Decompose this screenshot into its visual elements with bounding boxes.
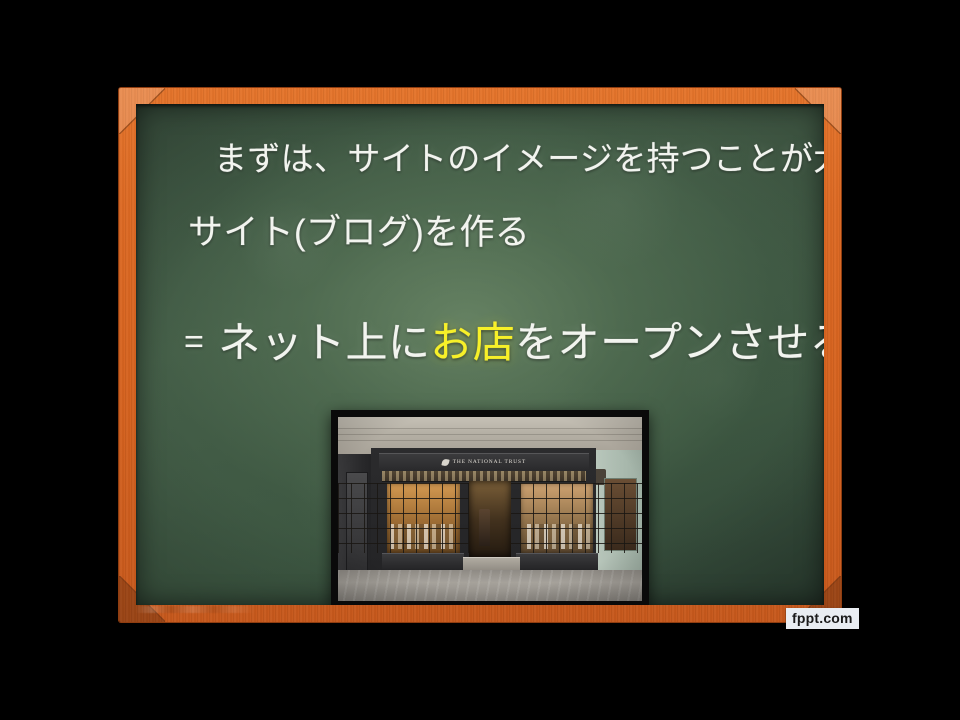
shop-photo: THE NATIONAL TRUST <box>338 417 642 601</box>
slide-stage: まずは、サイトのイメージを持つことが大事 サイト(ブログ)を作る =ネット上にお… <box>0 0 960 720</box>
oak-leaf-icon <box>441 458 449 466</box>
frame-scuff-mark <box>135 606 255 613</box>
conclusion-text-before: ネット上に <box>218 319 430 366</box>
equals-sign: = <box>184 323 218 361</box>
chalk-conclusion-line: =ネット上にお店をオープンさせる <box>184 320 824 366</box>
fppt-watermark: fppt.com <box>786 608 859 629</box>
photo-right-stall-riser <box>516 553 598 570</box>
photo-right-window-goods <box>527 524 591 550</box>
photo-pavement-sheen <box>338 570 642 601</box>
conclusion-text-after: をオープンさせる <box>515 319 824 366</box>
chalkboard-wooden-frame: まずは、サイトのイメージを持つことが大事 サイト(ブログ)を作る =ネット上にお… <box>119 88 841 622</box>
shop-photo-container: THE NATIONAL TRUST <box>331 410 649 605</box>
photo-facade-stonework <box>338 428 642 446</box>
chalk-statement-line: サイト(ブログ)を作る <box>188 214 530 253</box>
photo-right-neighbour-window <box>604 478 637 552</box>
photo-left-stall-riser <box>382 553 464 570</box>
photo-doorway-figure <box>479 509 490 546</box>
photo-side-door <box>346 472 369 571</box>
chalk-heading-line: まずは、サイトのイメージを持つことが大事 <box>214 141 824 177</box>
photo-shop-sign-text: THE NATIONAL TRUST <box>453 459 526 465</box>
photo-shop-doorway <box>469 481 512 556</box>
photo-shop-fascia: THE NATIONAL TRUST <box>379 453 589 470</box>
photo-left-window-goods <box>390 524 454 550</box>
chalkboard-surface: まずは、サイトのイメージを持つことが大事 サイト(ブログ)を作る =ネット上にお… <box>136 104 824 605</box>
highlighted-keyword: お店 <box>430 319 515 366</box>
